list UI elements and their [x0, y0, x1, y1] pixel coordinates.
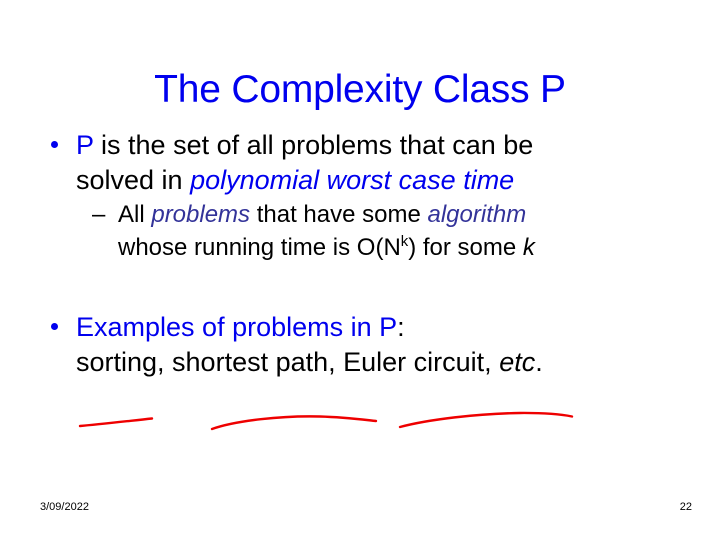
- bullet-3-examples-list: sorting, shortest path, Euler circuit,: [76, 347, 499, 377]
- bullet-1-emphasis-polynomial: polynomial worst case time: [190, 165, 514, 195]
- bullet-3-colon: :: [397, 312, 405, 342]
- slide-canvas: The Complexity Class P P is the set of a…: [0, 0, 720, 540]
- bullet-1-text-rest: is the set of all problems that can be: [94, 130, 534, 160]
- bullet-dot-icon: [51, 141, 58, 148]
- bullet-2-line-1: All problems that have some algorithm: [118, 201, 526, 228]
- dash-bullet-icon: –: [92, 198, 105, 231]
- bullet-3-etc: etc: [499, 347, 535, 377]
- bullet-dot-icon: [51, 323, 58, 330]
- page-title: The Complexity Class P: [0, 68, 720, 112]
- bullet-2-line-2: whose running time is O(Nk) for some k: [0, 231, 720, 264]
- bullet-2-emphasis-algorithm: algorithm: [428, 201, 527, 228]
- bullet-2-line2-b: ) for some: [408, 234, 523, 261]
- bullet-1-line-1: P is the set of all problems that can be: [76, 130, 533, 160]
- bullet-item-2: – All problems that have some algorithm: [0, 198, 720, 231]
- underline-sorting-stroke: [80, 419, 152, 427]
- bullet-1-token-p: P: [76, 130, 94, 160]
- bullet-3-period: .: [535, 347, 543, 377]
- bullet-2-text-a: All: [118, 201, 151, 228]
- vertical-spacer: [0, 264, 720, 310]
- bullet-1-line2-lead: solved in: [76, 165, 190, 195]
- bullet-item-3: Examples of problems in P: sorting, shor…: [0, 310, 720, 380]
- bullet-3-line-1: Examples of problems in P:: [76, 312, 405, 342]
- bullet-1-line-2: solved in polynomial worst case time: [76, 163, 720, 198]
- bullet-3-emphasis-examples: Examples of problems in P: [76, 312, 397, 342]
- footer-page-number: 22: [680, 500, 692, 514]
- bullet-2-variable-k: k: [523, 234, 535, 261]
- slide-body: P is the set of all problems that can be…: [0, 128, 720, 380]
- bullet-2-text-b: that have some: [250, 201, 427, 228]
- footer-date: 3/09/2022: [40, 500, 89, 514]
- bullet-item-1: P is the set of all problems that can be…: [0, 128, 720, 198]
- underline-euler-circuit-stroke: [400, 413, 572, 427]
- bullet-2-line2-a: whose running time is O(N: [118, 234, 401, 261]
- underline-shortest-path-stroke: [212, 416, 376, 429]
- bullet-3-line-2: sorting, shortest path, Euler circuit, e…: [76, 345, 720, 380]
- bullet-2-emphasis-problems: problems: [151, 201, 250, 228]
